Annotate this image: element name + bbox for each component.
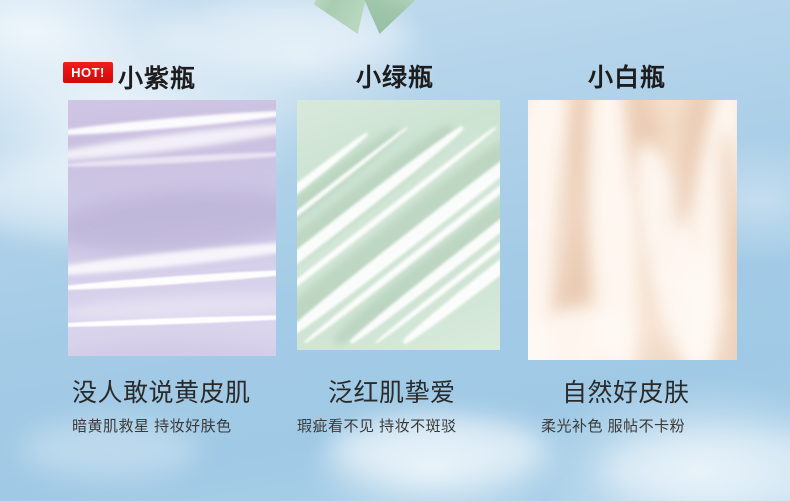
green-cream-swatch [297, 100, 500, 350]
product-title-purple: 小紫瓶 [118, 59, 196, 95]
caption-main-green: 泛红肌挚爱 [328, 373, 456, 409]
caption-main-white: 自然好皮肤 [562, 373, 690, 409]
prism-face-left [314, 0, 370, 34]
caption-sub-purple: 暗黄肌救星 持妆好肤色 [72, 415, 232, 436]
beige-cream-swatch [528, 100, 737, 360]
product-title-white: 小白瓶 [588, 58, 666, 94]
caption-sub-green: 瑕疵看不见 持妆不斑驳 [297, 415, 457, 436]
caption-main-purple: 没人敢说黄皮肌 [72, 373, 251, 409]
cloud-wisp [600, 430, 790, 501]
hot-badge: HOT! [63, 62, 113, 83]
purple-cream-swatch [68, 100, 276, 356]
caption-sub-white: 柔光补色 服帖不卡粉 [541, 415, 685, 436]
green-prism-icon [314, 0, 418, 34]
product-title-green: 小绿瓶 [356, 58, 434, 94]
